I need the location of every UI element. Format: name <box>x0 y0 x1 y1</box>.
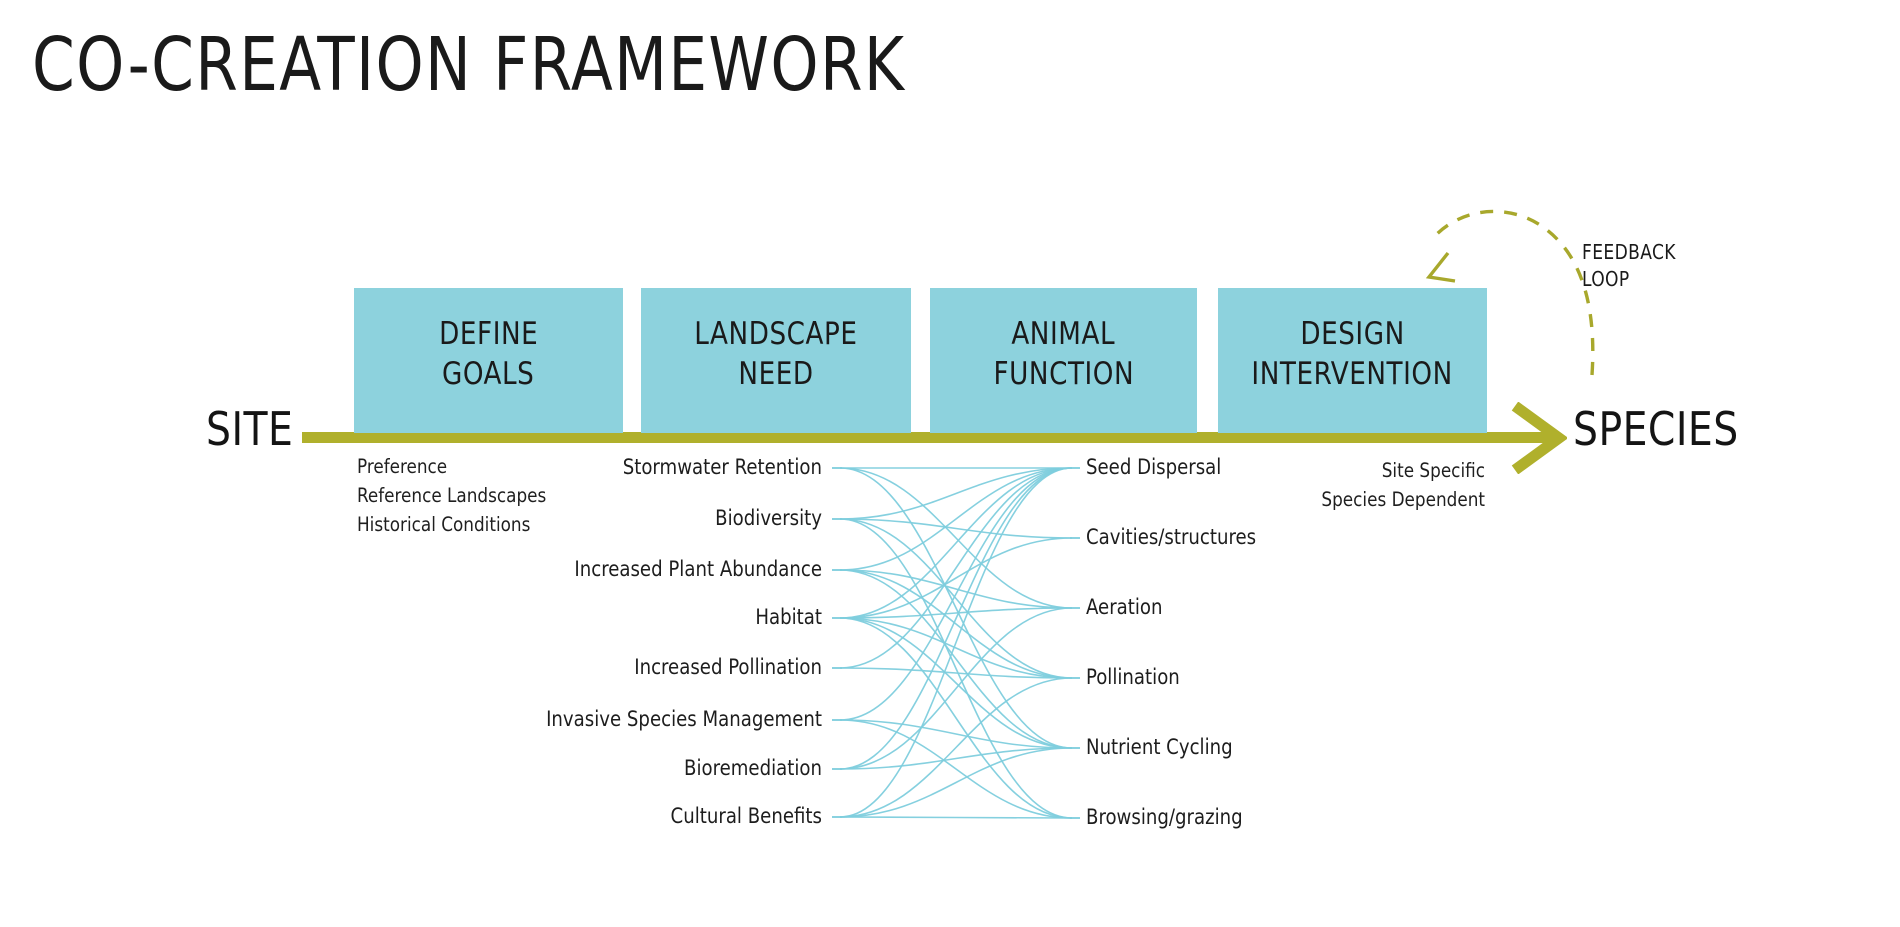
network-link <box>840 570 1072 678</box>
network-node-left-4: Increased Pollination <box>446 657 822 678</box>
network-node-right-4: Nutrient Cycling <box>1086 737 1233 758</box>
network-link <box>840 608 1072 618</box>
feedback-loop-label-line1: FEEDBACK <box>1582 239 1676 266</box>
site-label: SITE <box>206 406 293 452</box>
feedback-loop-label: FEEDBACK LOOP <box>1582 239 1676 293</box>
network-link <box>840 468 1072 618</box>
bipartite-network <box>0 0 1900 927</box>
network-link <box>840 817 1072 818</box>
stage-box-line2: FUNCTION <box>993 354 1134 394</box>
network-link <box>840 668 1072 678</box>
network-link <box>840 618 1072 748</box>
stage-box-line2: GOALS <box>442 354 534 394</box>
network-link <box>840 468 1072 769</box>
network-link <box>840 519 1072 818</box>
network-link <box>840 570 1072 608</box>
network-node-right-1: Cavities/structures <box>1086 527 1256 548</box>
network-node-left-6: Bioremediation <box>446 758 822 779</box>
stage-box-define-goals[interactable]: DEFINE GOALS <box>354 288 623 433</box>
caption-design-intervention: Site SpecificSpecies Dependent <box>1197 456 1485 514</box>
stage-box-line1: ANIMAL <box>1012 314 1116 354</box>
arrow-right-icon <box>1487 402 1567 474</box>
network-node-left-2: Increased Plant Abundance <box>446 559 822 580</box>
network-node-left-3: Habitat <box>446 607 822 628</box>
network-node-left-1: Biodiversity <box>446 508 822 529</box>
network-link <box>840 468 1072 519</box>
site-to-species-axis-bar <box>302 432 1560 443</box>
network-link <box>840 538 1072 618</box>
stage-box-line2: NEED <box>738 354 813 394</box>
network-link <box>840 519 1072 678</box>
network-node-left-0: Stormwater Retention <box>446 457 822 478</box>
network-link <box>840 570 1072 748</box>
network-link <box>840 720 1072 818</box>
stage-box-landscape-need[interactable]: LANDSCAPE NEED <box>641 288 911 433</box>
network-node-right-0: Seed Dispersal <box>1086 457 1221 478</box>
network-link <box>840 468 1072 608</box>
network-link <box>840 468 1072 668</box>
network-link <box>840 748 1072 769</box>
network-node-left-7: Cultural Benefits <box>446 806 822 827</box>
network-node-right-5: Browsing/grazing <box>1086 807 1243 828</box>
network-link <box>840 468 1072 570</box>
network-link <box>840 608 1072 769</box>
stage-box-animal-function[interactable]: ANIMAL FUNCTION <box>930 288 1197 433</box>
species-label: SPECIES <box>1573 406 1739 452</box>
network-link <box>840 678 1072 817</box>
network-link <box>840 468 1072 817</box>
stage-box-line1: LANDSCAPE <box>694 314 857 354</box>
network-link <box>840 748 1072 817</box>
network-node-left-5: Invasive Species Management <box>446 709 822 730</box>
caption-line-1: Reference Landscapes <box>357 481 546 510</box>
network-node-right-2: Aeration <box>1086 597 1163 618</box>
caption-line-1: Species Dependent <box>1197 485 1485 514</box>
network-node-right-3: Pollination <box>1086 667 1180 688</box>
network-links <box>840 468 1072 818</box>
stage-box-line1: DEFINE <box>439 314 538 354</box>
network-node-stubs <box>832 468 1080 818</box>
diagram-canvas: CO-CREATION FRAMEWORK SITE SPECIES DEFIN… <box>0 0 1900 927</box>
page-title: CO-CREATION FRAMEWORK <box>32 28 905 102</box>
network-link <box>840 519 1072 538</box>
caption-line-0: Site Specific <box>1197 456 1485 485</box>
network-link <box>840 468 1072 720</box>
feedback-loop-label-line2: LOOP <box>1582 266 1676 293</box>
network-link <box>840 618 1072 818</box>
network-link <box>840 720 1072 748</box>
stage-box-line1: DESIGN <box>1300 314 1404 354</box>
network-link <box>840 468 1072 748</box>
network-link <box>840 618 1072 678</box>
